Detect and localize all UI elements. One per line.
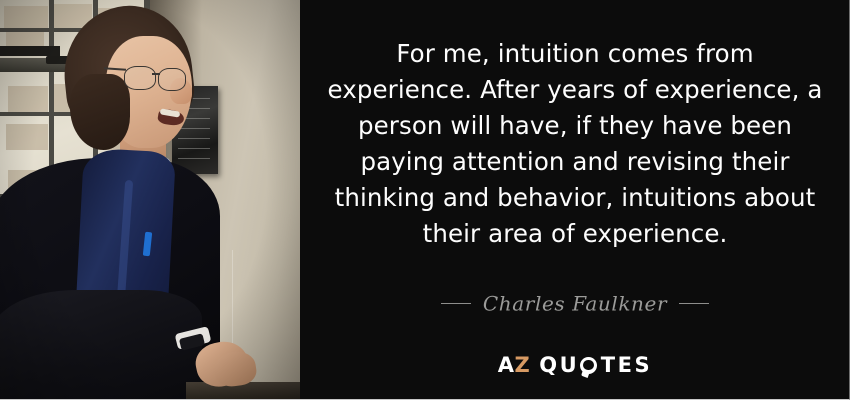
quote-line: experience. After years of experience, a	[312, 72, 838, 108]
quote-line: paying attention and revising their	[312, 144, 838, 180]
logo-quotes-part-1: QU	[539, 355, 579, 376]
attribution-dash-left	[441, 303, 471, 304]
az-quotes-logo[interactable]: AZ QUTES	[300, 352, 850, 378]
logo-az: AZ	[498, 355, 531, 376]
quote-line: thinking and behavior, intuitions about	[312, 180, 838, 216]
photo-jacket	[0, 290, 202, 400]
quote-line: For me, intuition comes from	[312, 36, 838, 72]
author-name: Charles Faulkner	[483, 292, 667, 316]
logo-quotes-part-2: TES	[601, 355, 653, 376]
quote-panel: For me, intuition comes from experience.…	[300, 0, 850, 400]
quote-line: person will have, if they have been	[312, 108, 838, 144]
speech-bubble-icon	[580, 357, 597, 374]
photo-wall-seam	[232, 250, 233, 350]
photo-glasses-left-lens	[124, 66, 156, 90]
attribution: Charles Faulkner	[300, 290, 850, 316]
quote-text: For me, intuition comes from experience.…	[312, 36, 838, 252]
logo-letter-z: Z	[514, 353, 530, 377]
attribution-dash-right	[679, 303, 709, 304]
quote-line: their area of experience.	[312, 216, 838, 252]
logo-letter-a: A	[498, 353, 515, 377]
logo-quotes-word: QUTES	[539, 355, 652, 376]
quote-card: For me, intuition comes from experience.…	[0, 0, 850, 400]
author-photo	[0, 0, 300, 400]
photo-glasses-bridge	[152, 73, 160, 75]
photo-glasses-right-lens	[158, 68, 186, 91]
